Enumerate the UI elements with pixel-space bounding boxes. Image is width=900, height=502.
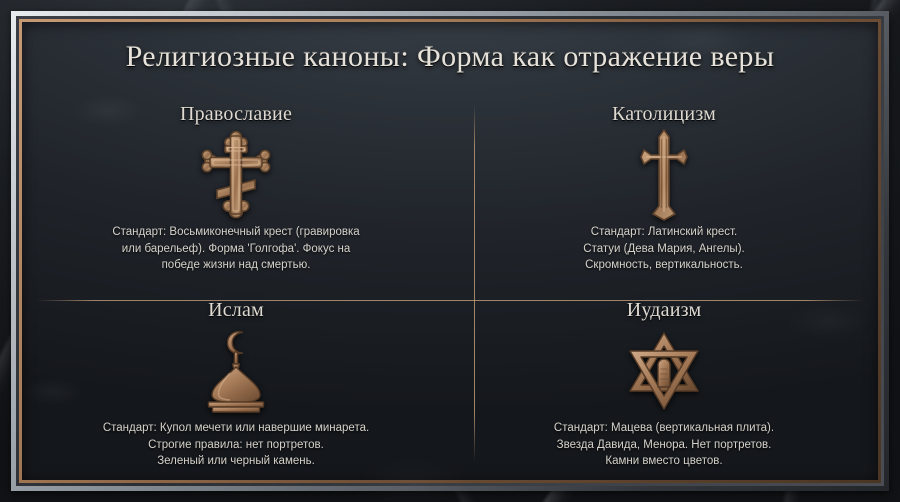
desc-line: победе жизни над смертью. — [112, 257, 359, 274]
plaque-frame-inner: Религиозные каноны: Форма как отражение … — [16, 16, 884, 486]
desc-line: Звезда Давида, Менора. Нет портретов. — [554, 437, 774, 454]
desc-line: Стандарт: Мацева (вертикальная плита). — [554, 420, 774, 437]
quadrant-description-orthodoxy: Стандарт: Восьмиконечный крест (гравиров… — [112, 224, 359, 274]
quadrant-orthodoxy: Православие — [22, 104, 450, 300]
quadrant-catholicism: Католицизм — [450, 104, 878, 300]
quadrant-heading-judaism: Иудаизм — [627, 300, 702, 320]
quadrant-judaism: Иудаизм — [450, 300, 878, 480]
page-title: Религиозные каноны: Форма как отражение … — [22, 40, 878, 74]
quadrant-heading-catholicism: Католицизм — [612, 104, 716, 124]
plaque-bronze-inlay: Религиозные каноны: Форма как отражение … — [19, 19, 881, 483]
quadrant-description-catholicism: Стандарт: Латинский крест. Статуи (Дева … — [583, 224, 744, 274]
plaque-frame-outer: Религиозные каноны: Форма как отражение … — [11, 11, 889, 491]
desc-line: Стандарт: Купол мечети или навершие мина… — [103, 420, 369, 437]
desc-line: Статуи (Дева Мария, Ангелы). — [583, 241, 744, 258]
stone-background: Религиозные каноны: Форма как отражение … — [0, 0, 900, 502]
desc-line: Камни вместо цветов. — [554, 453, 774, 470]
latin-cross-icon — [628, 132, 700, 218]
quadrant-grid: Православие — [22, 104, 878, 480]
desc-line: Зеленый или черный камень. — [103, 453, 369, 470]
quadrant-heading-islam: Ислам — [208, 300, 264, 320]
desc-line: Строгие правила: нет портретов. — [103, 437, 369, 454]
mosque-dome-crescent-icon — [190, 328, 282, 414]
desc-line: или барельеф). Форма 'Голгофа'. Фокус на — [112, 241, 359, 258]
star-of-david-matzeva-icon — [620, 328, 708, 414]
quadrant-heading-orthodoxy: Православие — [180, 104, 292, 124]
desc-line: Стандарт: Восьмиконечный крест (гравиров… — [112, 224, 359, 241]
quadrant-description-islam: Стандарт: Купол мечети или навершие мина… — [103, 420, 369, 470]
quadrant-description-judaism: Стандарт: Мацева (вертикальная плита). З… — [554, 420, 774, 470]
desc-line: Стандарт: Латинский крест. — [583, 224, 744, 241]
quadrant-islam: Ислам — [22, 300, 450, 480]
desc-line: Скромность, вертикальность. — [583, 257, 744, 274]
orthodox-cross-icon — [199, 132, 273, 218]
plaque-panel: Религиозные каноны: Форма как отражение … — [22, 22, 878, 480]
